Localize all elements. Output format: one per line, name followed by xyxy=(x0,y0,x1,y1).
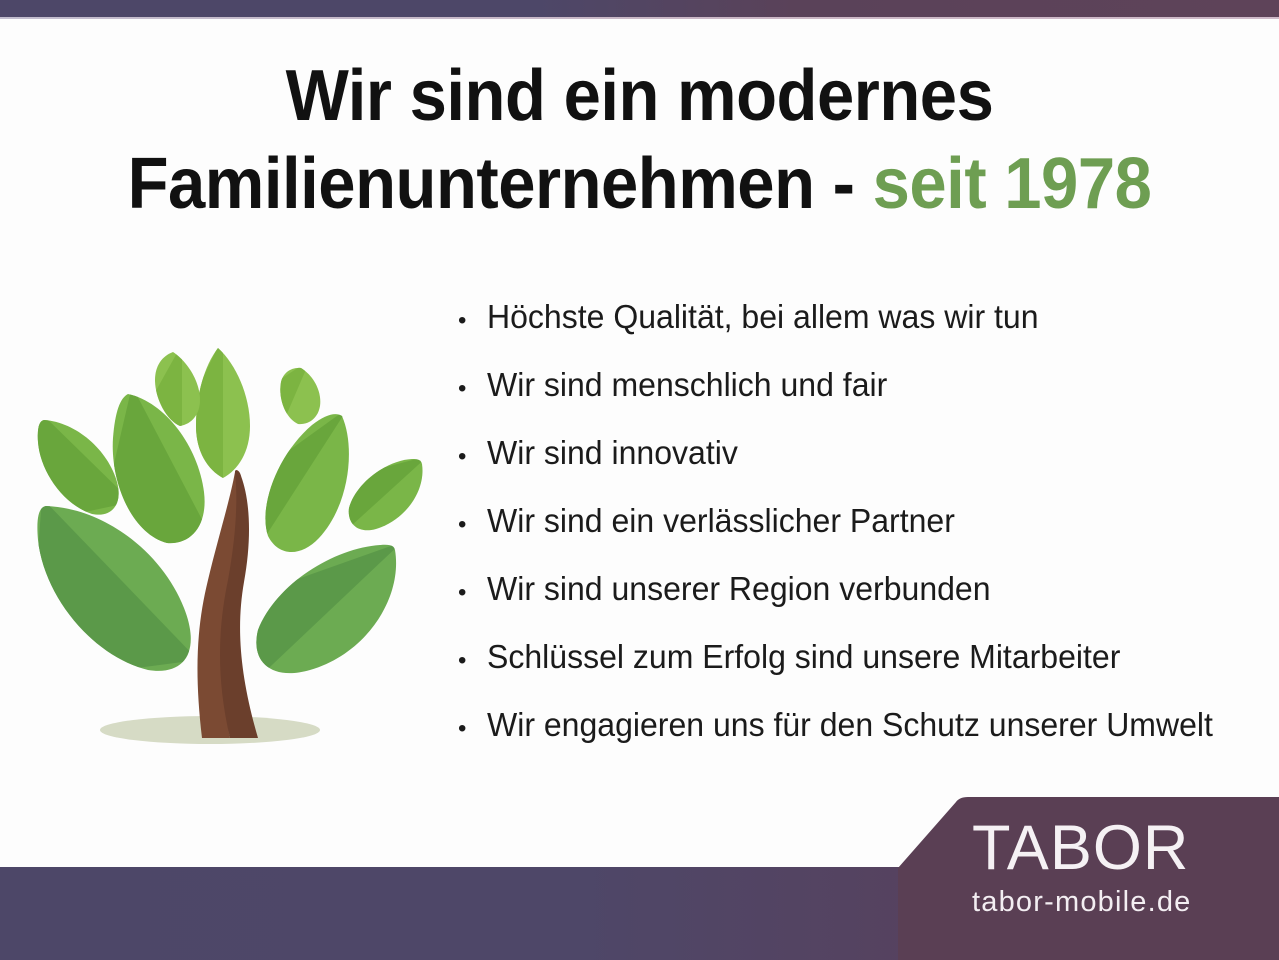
brand-logo: TABOR tabor-mobile.de xyxy=(880,797,1279,960)
leaf-upper-right xyxy=(248,408,349,552)
top-accent-bar xyxy=(0,0,1279,17)
list-item: • Schlüssel zum Erfolg sind unsere Mitar… xyxy=(458,640,1268,708)
list-item: • Wir sind menschlich und fair xyxy=(458,368,1268,436)
list-item-label: Wir sind innovativ xyxy=(487,436,738,469)
tree-trunk xyxy=(197,470,258,738)
top-accent-hairline xyxy=(0,17,1279,19)
list-item-label: Wir sind unserer Region verbunden xyxy=(487,572,991,605)
list-item-label: Wir sind menschlich und fair xyxy=(487,368,887,401)
slide-canvas: Wir sind ein modernes Familienunternehme… xyxy=(0,0,1279,960)
title-line-2-plain: Familienunternehmen - xyxy=(128,144,873,224)
list-item: • Höchste Qualität, bei allem was wir tu… xyxy=(458,300,1268,368)
title-line-1: Wir sind ein modernes xyxy=(45,52,1234,140)
list-item-label: Schlüssel zum Erfolg sind unsere Mitarbe… xyxy=(487,640,1120,673)
tree-svg xyxy=(22,330,442,762)
bullet-marker-icon: • xyxy=(458,513,487,537)
bullet-list: • Höchste Qualität, bei allem was wir tu… xyxy=(458,300,1268,776)
bullet-marker-icon: • xyxy=(458,581,487,605)
title-line-2: Familienunternehmen - seit 1978 xyxy=(45,140,1234,228)
bullet-marker-icon: • xyxy=(458,377,487,401)
list-item-label: Wir engagieren uns für den Schutz unsere… xyxy=(487,708,1213,741)
page-title: Wir sind ein modernes Familienunternehme… xyxy=(0,52,1279,228)
leaf-top-right-small xyxy=(270,360,320,430)
list-item: • Wir sind innovativ xyxy=(458,436,1268,504)
list-item: • Wir engagieren uns für den Schutz unse… xyxy=(458,708,1268,776)
bullet-marker-icon: • xyxy=(458,309,487,333)
list-item: • Wir sind unserer Region verbunden xyxy=(458,572,1268,640)
bullet-marker-icon: • xyxy=(458,649,487,673)
tree-logo-icon xyxy=(22,330,442,762)
bullet-marker-icon: • xyxy=(458,717,487,741)
list-item: • Wir sind ein verlässlicher Partner xyxy=(458,504,1268,572)
logo-wordmark: TABOR xyxy=(972,815,1272,881)
logo-text-group: TABOR tabor-mobile.de xyxy=(972,815,1272,921)
list-item-label: Höchste Qualität, bei allem was wir tun xyxy=(487,300,1039,333)
title-accent-year: seit 1978 xyxy=(873,144,1152,224)
logo-tagline: tabor-mobile.de xyxy=(972,883,1272,921)
leaf-right-small xyxy=(336,456,428,536)
bullet-marker-icon: • xyxy=(458,445,487,469)
leaf-lower-right xyxy=(244,542,402,682)
list-item-label: Wir sind ein verlässlicher Partner xyxy=(487,504,955,537)
